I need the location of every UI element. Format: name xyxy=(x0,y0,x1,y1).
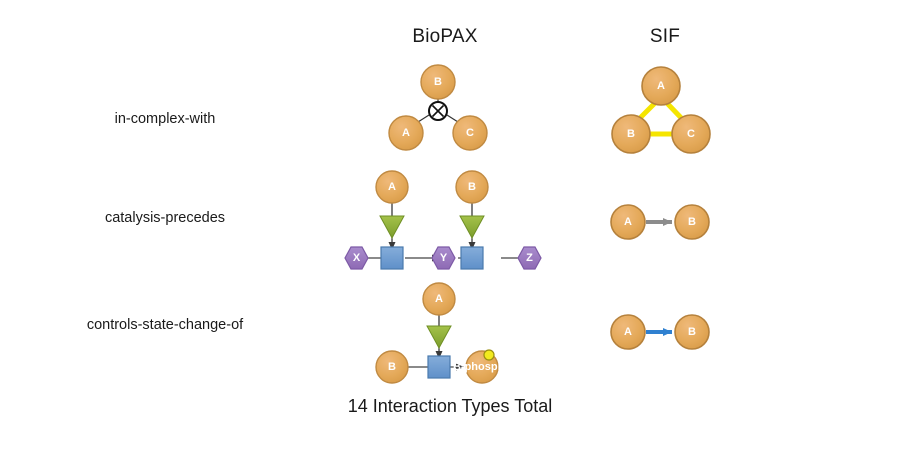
node-label: X xyxy=(353,252,361,264)
row-controls-state-change-of-biopax: A B B-phospho xyxy=(376,283,511,383)
sif-node-B: B xyxy=(675,205,709,239)
node-label: A xyxy=(388,181,396,193)
biopax-node-reaction-1 xyxy=(428,356,450,378)
biopax-node-A: A xyxy=(423,283,455,315)
biopax-node-complex-icon xyxy=(429,102,447,120)
biopax-node-B: B xyxy=(421,65,455,99)
node-label: B xyxy=(434,76,442,88)
diagram-canvas: B A C A xyxy=(0,0,900,450)
modification-phosphate-icon xyxy=(484,350,494,360)
biopax-node-C: C xyxy=(453,116,487,150)
sif-node-A: A xyxy=(611,205,645,239)
biopax-node-A: A xyxy=(389,116,423,150)
sif-node-C: C xyxy=(672,115,710,153)
catalysis-arrowhead-B xyxy=(460,216,484,238)
biopax-node-A: A xyxy=(376,171,408,203)
figure-caption: 14 Interaction Types Total xyxy=(250,396,650,417)
biopax-sif-interaction-figure: BioPAX SIF in-complex-with catalysis-pre… xyxy=(0,0,900,450)
biopax-node-Z: Z xyxy=(518,247,541,269)
row-in-complex-with-sif: A B C xyxy=(612,67,710,153)
sif-node-A: A xyxy=(642,67,680,105)
node-label: B xyxy=(468,181,476,193)
sif-node-A: A xyxy=(611,315,645,349)
biopax-node-B: B xyxy=(376,351,408,383)
node-label: A xyxy=(624,216,632,228)
row-controls-state-change-of-sif: A B xyxy=(611,315,709,349)
sif-node-B: B xyxy=(612,115,650,153)
sif-node-B: B xyxy=(675,315,709,349)
node-label: Z xyxy=(526,252,533,264)
node-label: A xyxy=(657,80,665,92)
biopax-node-B-phospho: B-phospho xyxy=(453,350,511,383)
node-label: Y xyxy=(440,252,448,264)
edge-A-to-complex xyxy=(418,115,429,122)
catalysis-arrowhead-A xyxy=(427,326,451,348)
biopax-node-reaction-1 xyxy=(381,247,403,269)
node-label: C xyxy=(687,128,695,140)
node-label: B xyxy=(688,216,696,228)
node-label: A xyxy=(624,326,632,338)
biopax-node-B: B xyxy=(456,171,488,203)
node-label: C xyxy=(466,127,474,139)
node-label: A xyxy=(402,127,410,139)
row-catalysis-precedes-sif: A B xyxy=(611,205,709,239)
biopax-node-X: X xyxy=(345,247,368,269)
catalysis-arrowhead-A xyxy=(380,216,404,238)
biopax-node-Y: Y xyxy=(432,247,455,269)
node-label: A xyxy=(435,293,443,305)
edge-C-to-complex xyxy=(447,115,458,122)
node-label: B xyxy=(688,326,696,338)
row-in-complex-with-biopax: B A C xyxy=(389,65,487,150)
row-catalysis-precedes-biopax: A B X Y Z xyxy=(345,171,541,269)
node-label: B xyxy=(388,361,396,373)
node-label: B xyxy=(627,128,635,140)
node-label: B-phospho xyxy=(453,361,511,373)
biopax-node-reaction-2 xyxy=(461,247,483,269)
